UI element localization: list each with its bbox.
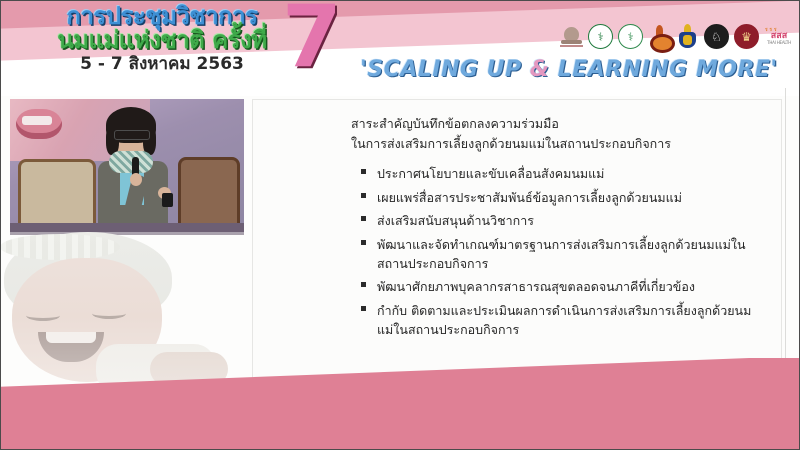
bullet-square-icon xyxy=(361,216,366,221)
logo-ministry-public-health-icon: ⚕ xyxy=(588,24,613,49)
slide-content-card: สาระสำคัญบันทึกข้อตกลงความร่วมมือ ในการส… xyxy=(252,99,782,388)
bullet-text: พัฒนาและจัดทำเกณฑ์มาตรฐานการส่งเสริมการเ… xyxy=(377,237,746,271)
bullet-square-icon xyxy=(361,240,366,245)
slide-footer-wedge xyxy=(0,358,800,450)
chair-right xyxy=(178,157,240,227)
conference-date: 5 - 7 สิงหาคม 2563 xyxy=(22,55,302,74)
logo-thaihealth-sss-icon: ร ร ร สสสTHAI HEALTH xyxy=(764,25,794,48)
speaker-hand xyxy=(130,173,142,186)
slogan-part1: 'SCALING UP xyxy=(360,57,530,82)
bullet-square-icon xyxy=(361,169,366,174)
list-item: ประกาศนโยบายและขับเคลื่อนสังคมนมแม่ xyxy=(361,164,761,183)
logo-university-crest-orange-icon xyxy=(648,25,671,48)
list-item: ส่งเสริมสนับสนุนด้านวิชาการ xyxy=(361,211,761,230)
bullet-text: พัฒนาศักยภาพบุคลากรสาธารณสุขตลอดจนภาคีที… xyxy=(377,279,695,294)
bullet-square-icon xyxy=(361,306,366,311)
card-right-edge-line xyxy=(785,88,786,388)
logo-breastfeeding-foundation-icon: ⚕ xyxy=(618,24,643,49)
list-item: พัฒนาศักยภาพบุคลากรสาธารณสุขตลอดจนภาคีที… xyxy=(361,277,761,296)
logo-university-crest-navy-icon xyxy=(676,25,699,48)
intro-line-2: ในการส่งเสริมการเลี้ยงลูกด้วยนมแม่ในสถาน… xyxy=(351,134,771,154)
slogan-part2: LEARNING MORE' xyxy=(549,57,777,82)
speaker-glasses-icon xyxy=(114,130,150,140)
speaker-video xyxy=(10,99,244,235)
bullet-text: ประกาศนโยบายและขับเคลื่อนสังคมนมแม่ xyxy=(377,166,604,181)
bullet-text: กำกับ ติดตามและประเมินผลการดำเนินการส่งเ… xyxy=(377,303,751,337)
speaker-scarf xyxy=(109,151,153,173)
slogan-ampersand: & xyxy=(530,57,550,82)
logo-royal-emblem-icon xyxy=(560,25,583,48)
slide-bullet-list: ประกาศนโยบายและขับเคลื่อนสังคมนมแม่ เผยแ… xyxy=(361,164,761,343)
bullet-square-icon xyxy=(361,193,366,198)
chair-left xyxy=(18,159,96,227)
conference-edition-number: 7 xyxy=(282,0,342,80)
conference-title-block: การประชุมวิชาการ นมแม่แห่งชาติ ครั้งที่ … xyxy=(22,4,302,74)
intro-line-1: สาระสำคัญบันทึกข้อตกลงความร่วมมือ xyxy=(351,114,771,134)
list-item: กำกับ ติดตามและประเมินผลการดำเนินการส่งเ… xyxy=(361,301,761,339)
logo-university-crest-maroon-icon: ♛ xyxy=(734,24,759,49)
screen-teeth-image xyxy=(22,116,52,125)
logo-university-crest-black-icon: ♘ xyxy=(704,24,729,49)
bullet-text: เผยแพร่สื่อสารประชาสัมพันธ์ข้อมูลการเลี้… xyxy=(377,190,682,205)
slide-intro-text: สาระสำคัญบันทึกข้อตกลงความร่วมมือ ในการส… xyxy=(351,114,771,154)
list-item: เผยแพร่สื่อสารประชาสัมพันธ์ข้อมูลการเลี้… xyxy=(361,188,761,207)
bullet-text: ส่งเสริมสนับสนุนด้านวิชาการ xyxy=(377,213,534,228)
presenter-remote-icon xyxy=(162,193,173,207)
footer-wedge-main xyxy=(0,358,800,450)
conference-slogan: 'SCALING UP & LEARNING MORE' xyxy=(360,57,778,82)
list-item: พัฒนาและจัดทำเกณฑ์มาตรฐานการส่งเสริมการเ… xyxy=(361,235,761,273)
bullet-square-icon xyxy=(361,282,366,287)
conference-title-line2: นมแม่แห่งชาติ ครั้งที่ xyxy=(22,28,302,53)
sponsor-logo-row: ⚕ ⚕ ♘ ♛ ร ร ร สสสTHAI HEALTH xyxy=(560,24,794,49)
presentation-slide: การประชุมวิชาการ นมแม่แห่งชาติ ครั้งที่ … xyxy=(0,0,800,450)
